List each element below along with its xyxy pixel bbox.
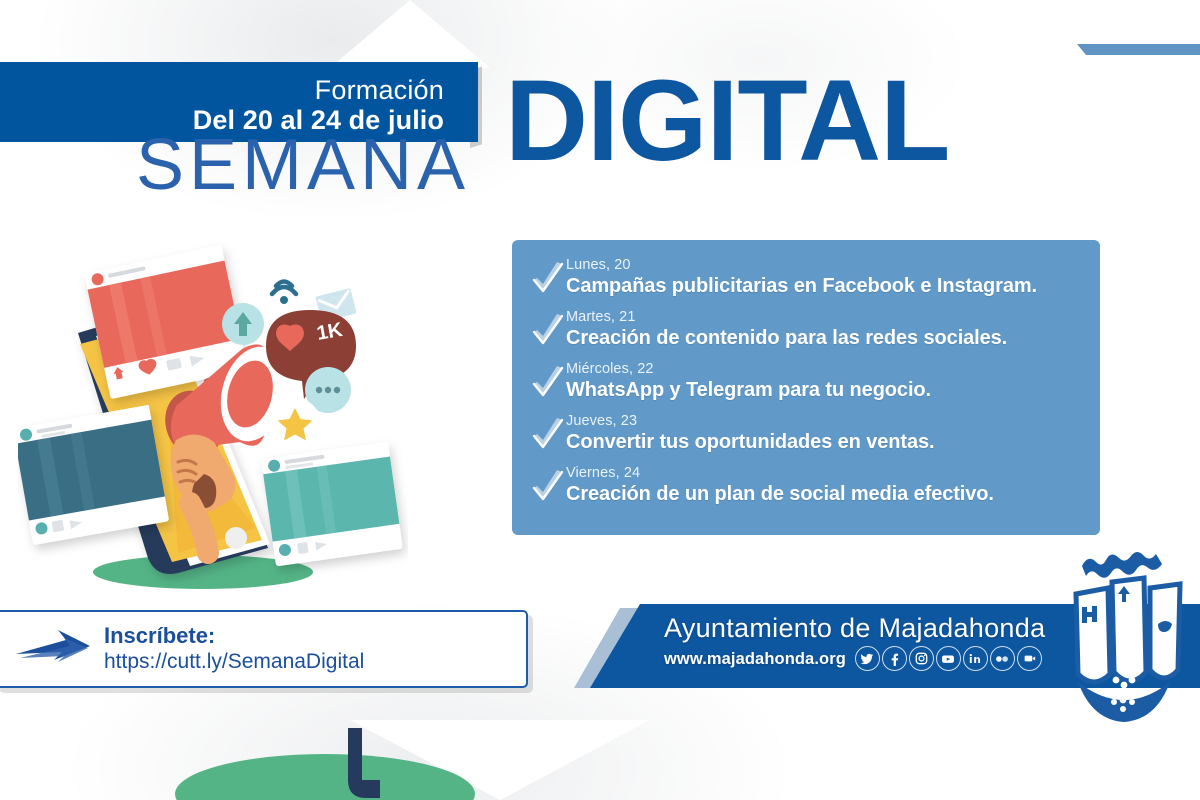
website-link[interactable]: www.majadahonda.org: [664, 649, 846, 669]
linkedin-icon[interactable]: [963, 646, 988, 671]
schedule-item: Viernes, 24 Creación de un plan de socia…: [530, 462, 1084, 508]
schedule-item: Lunes, 20 Campañas publicitarias en Face…: [530, 254, 1084, 300]
accent-bar-top-right: [1086, 44, 1200, 55]
social-links: [855, 646, 1042, 671]
youtube-icon[interactable]: [936, 646, 961, 671]
schedule-panel: Lunes, 20 Campañas publicitarias en Face…: [512, 240, 1100, 535]
poster-canvas: Formación Del 20 al 24 de julio SEMANA D…: [0, 0, 1200, 800]
schedule-item: Martes, 21 Creación de contenido para la…: [530, 306, 1084, 352]
schedule-day: Martes, 21: [566, 309, 636, 325]
schedule-topic: Campañas publicitarias en Facebook e Ins…: [566, 275, 1037, 297]
title-semana: SEMANA: [136, 128, 470, 202]
schedule-item: Jueves, 23 Convertir tus oportunidades e…: [530, 410, 1084, 456]
register-box[interactable]: Inscríbete: https://cutt.ly/SemanaDigita…: [0, 610, 528, 688]
formacion-label: Formación: [315, 75, 444, 105]
schedule-topic: Creación de un plan de social media efec…: [566, 483, 994, 505]
schedule-item: Miércoles, 22 WhatsApp y Telegram para t…: [530, 358, 1084, 404]
wifi-icon: [259, 265, 309, 315]
schedule-topic: Creación de contenido para las redes soc…: [566, 327, 1007, 349]
schedule-day: Miércoles, 22: [566, 361, 654, 377]
schedule-topic: Convertir tus oportunidades en ventas.: [566, 431, 935, 453]
schedule-topic: WhatsApp y Telegram para tu negocio.: [566, 379, 931, 401]
check-icon: [530, 310, 566, 352]
check-icon: [530, 466, 566, 508]
check-icon: [530, 414, 566, 456]
instagram-icon[interactable]: [909, 646, 934, 671]
register-label: Inscríbete:: [104, 623, 215, 648]
majadahonda-coat-of-arms: [1058, 552, 1190, 732]
title-digital: DIGITAL: [505, 62, 949, 180]
check-icon: [530, 362, 566, 404]
social-media-illustration: 1K: [18, 228, 408, 593]
schedule-day: Lunes, 20: [566, 257, 631, 273]
flickr-icon[interactable]: [990, 646, 1015, 671]
svg-text:1K: 1K: [315, 319, 345, 345]
video-icon[interactable]: [1017, 646, 1042, 671]
check-icon: [530, 258, 566, 300]
twitter-icon[interactable]: [855, 646, 880, 671]
star-icon: [269, 398, 321, 450]
schedule-day: Viernes, 24: [566, 465, 640, 481]
background-triangle-top: [330, 0, 490, 68]
schedule-day: Jueves, 23: [566, 413, 637, 429]
facebook-icon[interactable]: [882, 646, 907, 671]
register-url[interactable]: https://cutt.ly/SemanaDigital: [104, 650, 364, 673]
secondary-illustration: [110, 728, 540, 800]
arrow-up-icon: [222, 303, 264, 345]
arrow-right-icon: [0, 628, 102, 670]
